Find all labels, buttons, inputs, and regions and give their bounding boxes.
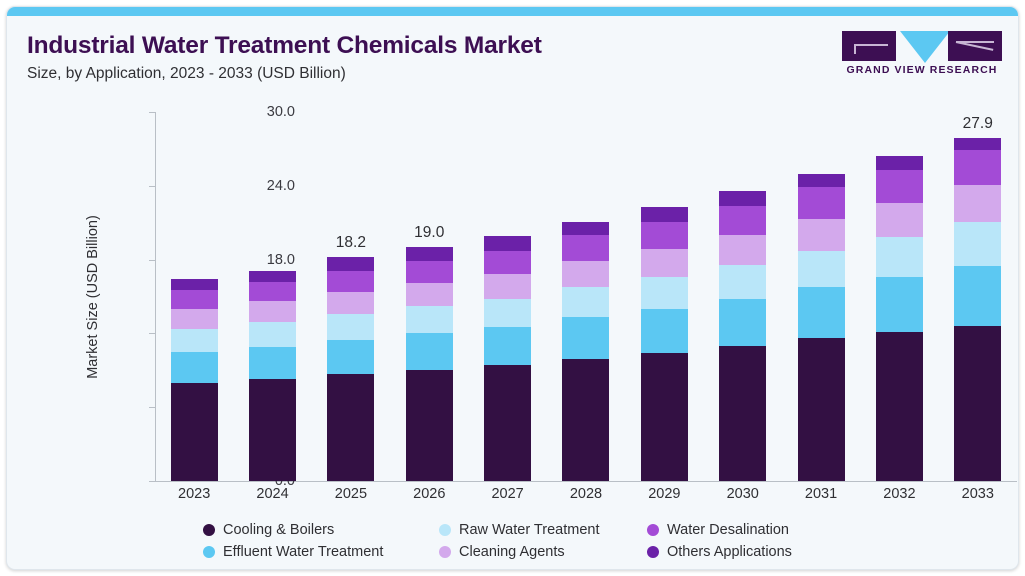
bar-segment[interactable] xyxy=(641,353,688,481)
bar-segment[interactable] xyxy=(406,247,453,261)
bar-value-label: 27.9 xyxy=(963,115,993,133)
logo-g-icon xyxy=(842,31,896,61)
bar-segment[interactable] xyxy=(719,235,766,265)
bar-segment[interactable] xyxy=(954,185,1001,222)
bar-segment[interactable] xyxy=(484,299,531,327)
bar-segment[interactable] xyxy=(876,170,923,203)
chart-legend: Cooling & BoilersRaw Water TreatmentWate… xyxy=(203,519,863,563)
bar-segment[interactable] xyxy=(798,187,845,219)
bar-segment[interactable] xyxy=(719,191,766,206)
bar-segment[interactable] xyxy=(798,174,845,188)
x-tick-label: 2027 xyxy=(468,486,546,502)
legend-item[interactable]: Cleaning Agents xyxy=(439,544,647,560)
bar-column[interactable]: 19.02026 xyxy=(390,112,468,481)
bar-column[interactable]: 27.92033 xyxy=(939,112,1017,481)
stacked-bar[interactable]: 27.9 xyxy=(954,138,1001,481)
y-tick-mark xyxy=(149,112,156,113)
legend-item-label: Raw Water Treatment xyxy=(459,522,599,538)
bar-segment[interactable] xyxy=(327,314,374,340)
stacked-bar[interactable] xyxy=(641,207,688,481)
bar-segment[interactable] xyxy=(876,332,923,481)
bar-segment[interactable] xyxy=(954,326,1001,481)
legend-item-label: Cooling & Boilers xyxy=(223,522,334,538)
bar-segment[interactable] xyxy=(406,283,453,306)
bar-segment[interactable] xyxy=(249,379,296,481)
bar-segment[interactable] xyxy=(954,150,1001,184)
chart-card: Industrial Water Treatment Chemicals Mar… xyxy=(6,6,1019,570)
y-tick-mark xyxy=(149,333,156,334)
bar-segment[interactable] xyxy=(954,266,1001,326)
bar-segment[interactable] xyxy=(327,292,374,314)
bar-segment[interactable] xyxy=(327,271,374,292)
bar-segment[interactable] xyxy=(249,322,296,347)
bar-segment[interactable] xyxy=(641,277,688,309)
legend-item[interactable]: Cooling & Boilers xyxy=(203,522,439,538)
x-tick-label: 2028 xyxy=(547,486,625,502)
bar-segment[interactable] xyxy=(562,235,609,261)
page-subtitle: Size, by Application, 2023 - 2033 (USD B… xyxy=(27,65,346,83)
bar-segment[interactable] xyxy=(171,309,218,329)
bar-segment[interactable] xyxy=(327,257,374,271)
bar-segment[interactable] xyxy=(562,317,609,359)
x-tick-label: 2029 xyxy=(625,486,703,502)
bar-segment[interactable] xyxy=(406,370,453,481)
bar-segment[interactable] xyxy=(719,346,766,481)
bar-segment[interactable] xyxy=(406,306,453,333)
bar-segment[interactable] xyxy=(406,333,453,370)
bar-segment[interactable] xyxy=(876,277,923,332)
bar-value-label: 18.2 xyxy=(336,234,366,252)
bar-column[interactable]: 2023 xyxy=(155,112,233,481)
bar-segment[interactable] xyxy=(327,374,374,481)
stacked-bar[interactable] xyxy=(171,279,218,481)
x-tick-label: 2031 xyxy=(782,486,860,502)
bar-segment[interactable] xyxy=(484,274,531,299)
legend-color-dot-icon xyxy=(203,524,215,536)
bar-column[interactable]: 2028 xyxy=(547,112,625,481)
legend-color-dot-icon xyxy=(647,546,659,558)
bar-column[interactable]: 18.22025 xyxy=(312,112,390,481)
bar-column[interactable]: 2027 xyxy=(468,112,546,481)
logo-mark xyxy=(842,31,1002,61)
bar-segment[interactable] xyxy=(171,290,218,308)
bar-segment[interactable] xyxy=(484,236,531,251)
logo-v-icon xyxy=(900,31,950,63)
stacked-bar[interactable] xyxy=(876,156,923,481)
x-tick-label: 2030 xyxy=(704,486,782,502)
logo-wordmark: GRAND VIEW RESEARCH xyxy=(842,64,1002,76)
legend-item[interactable]: Raw Water Treatment xyxy=(439,522,647,538)
bar-series-group: 2023202418.2202519.020262027202820292030… xyxy=(155,112,1017,481)
bar-segment[interactable] xyxy=(171,329,218,352)
x-tick-label: 2026 xyxy=(390,486,468,502)
bar-segment[interactable] xyxy=(484,327,531,365)
bar-segment[interactable] xyxy=(171,352,218,383)
bar-segment[interactable] xyxy=(798,251,845,287)
bar-segment[interactable] xyxy=(641,222,688,249)
bar-segment[interactable] xyxy=(249,301,296,322)
stacked-bar[interactable]: 18.2 xyxy=(327,257,374,481)
bar-segment[interactable] xyxy=(249,347,296,379)
bar-segment[interactable] xyxy=(798,219,845,251)
stacked-bar[interactable] xyxy=(484,236,531,481)
bar-column[interactable]: 2030 xyxy=(704,112,782,481)
bar-value-label: 19.0 xyxy=(414,224,444,242)
legend-item[interactable]: Effluent Water Treatment xyxy=(203,544,439,560)
stacked-bar[interactable] xyxy=(719,191,766,481)
bar-segment[interactable] xyxy=(641,309,688,353)
bar-segment[interactable] xyxy=(876,203,923,237)
bar-segment[interactable] xyxy=(171,383,218,481)
bar-segment[interactable] xyxy=(954,222,1001,266)
legend-item-label: Others Applications xyxy=(667,544,792,560)
bar-segment[interactable] xyxy=(562,222,609,236)
bar-segment[interactable] xyxy=(327,340,374,374)
bar-segment[interactable] xyxy=(876,237,923,276)
stacked-bar[interactable] xyxy=(249,271,296,481)
bar-segment[interactable] xyxy=(719,299,766,346)
grand-view-research-logo: GRAND VIEW RESEARCH xyxy=(842,31,1002,81)
logo-r-icon xyxy=(948,31,1002,61)
bar-segment[interactable] xyxy=(719,265,766,299)
bar-segment[interactable] xyxy=(171,279,218,290)
bar-segment[interactable] xyxy=(641,207,688,222)
bar-segment[interactable] xyxy=(484,251,531,274)
bar-segment[interactable] xyxy=(484,365,531,481)
bar-segment[interactable] xyxy=(249,271,296,282)
bar-segment[interactable] xyxy=(562,261,609,287)
bar-column[interactable]: 2031 xyxy=(782,112,860,481)
y-tick-mark xyxy=(149,186,156,187)
legend-color-dot-icon xyxy=(439,524,451,536)
bar-segment[interactable] xyxy=(406,261,453,283)
x-tick-label: 2024 xyxy=(233,486,311,502)
legend-item[interactable]: Water Desalination xyxy=(647,522,863,538)
legend-item-label: Cleaning Agents xyxy=(459,544,565,560)
x-tick-label: 2023 xyxy=(155,486,233,502)
stacked-bar[interactable] xyxy=(562,222,609,482)
legend-item-label: Effluent Water Treatment xyxy=(223,544,383,560)
legend-color-dot-icon xyxy=(647,524,659,536)
stacked-bar[interactable]: 19.0 xyxy=(406,247,453,481)
bar-segment[interactable] xyxy=(798,287,845,339)
legend-item-label: Water Desalination xyxy=(667,522,789,538)
x-tick-label: 2025 xyxy=(312,486,390,502)
legend-color-dot-icon xyxy=(203,546,215,558)
chart-screenshot: Industrial Water Treatment Chemicals Mar… xyxy=(0,0,1025,576)
bar-segment[interactable] xyxy=(954,138,1001,150)
bar-segment[interactable] xyxy=(641,249,688,277)
legend-item[interactable]: Others Applications xyxy=(647,544,863,560)
y-axis-title: Market Size (USD Billion) xyxy=(85,215,101,379)
accent-top-bar xyxy=(7,7,1018,16)
x-tick-label: 2033 xyxy=(939,486,1017,502)
legend-color-dot-icon xyxy=(439,546,451,558)
bar-segment[interactable] xyxy=(798,338,845,481)
bar-segment[interactable] xyxy=(876,156,923,170)
y-tick-mark xyxy=(149,260,156,261)
bar-segment[interactable] xyxy=(562,359,609,481)
stacked-bar[interactable] xyxy=(798,174,845,481)
plot-area: Market Size (USD Billion) 0.06.012.018.0… xyxy=(155,112,1017,481)
bar-column[interactable]: 2029 xyxy=(625,112,703,481)
bar-segment[interactable] xyxy=(719,206,766,236)
bar-column[interactable]: 2024 xyxy=(233,112,311,481)
x-tick-label: 2032 xyxy=(860,486,938,502)
bar-segment[interactable] xyxy=(562,287,609,318)
bar-column[interactable]: 2032 xyxy=(860,112,938,481)
page-title: Industrial Water Treatment Chemicals Mar… xyxy=(27,32,542,60)
y-tick-mark xyxy=(149,481,156,482)
y-tick-mark xyxy=(149,407,156,408)
bar-segment[interactable] xyxy=(249,282,296,302)
